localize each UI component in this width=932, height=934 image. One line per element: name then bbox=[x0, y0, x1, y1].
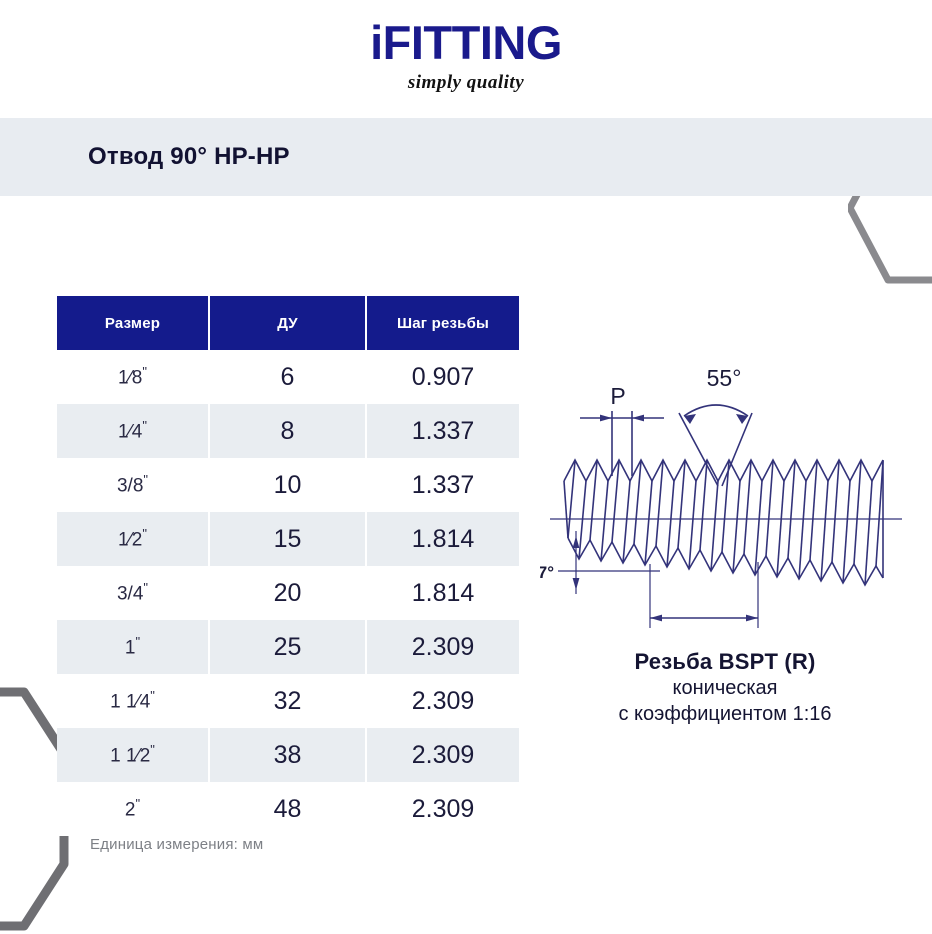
table-row: 1⁄2"151.814 bbox=[57, 512, 519, 566]
table-row: 2"482.309 bbox=[57, 782, 519, 836]
cell-size: 1" bbox=[57, 620, 210, 674]
inch-mark: " bbox=[135, 634, 140, 649]
inch-mark: " bbox=[142, 526, 147, 541]
cell-du: 20 bbox=[210, 566, 367, 620]
table-row: 1 1⁄4"322.309 bbox=[57, 674, 519, 728]
cell-size: 3/4" bbox=[57, 566, 210, 620]
size-value: 1⁄2 bbox=[118, 530, 142, 551]
thread-caption-title: Резьба BSPT (R) bbox=[540, 648, 910, 676]
inch-mark: " bbox=[143, 472, 148, 487]
cell-size: 1⁄8" bbox=[57, 350, 210, 404]
cell-size: 2" bbox=[57, 782, 210, 836]
cell-size: 1⁄2" bbox=[57, 512, 210, 566]
inch-mark: " bbox=[150, 742, 155, 757]
cell-pitch: 1.814 bbox=[367, 512, 519, 566]
brand-tagline: simply quality bbox=[408, 73, 524, 92]
content-area: Размер ДУ Шаг резьбы 1⁄8"60.9071⁄4"81.33… bbox=[0, 196, 932, 932]
cell-pitch: 2.309 bbox=[367, 782, 519, 836]
cell-du: 48 bbox=[210, 782, 367, 836]
size-value: 3/4 bbox=[117, 584, 143, 605]
inch-mark: " bbox=[143, 580, 148, 595]
cell-du: 38 bbox=[210, 728, 367, 782]
inch-mark: " bbox=[142, 364, 147, 379]
cell-du: 32 bbox=[210, 674, 367, 728]
cell-pitch: 2.309 bbox=[367, 674, 519, 728]
cell-size: 1⁄4" bbox=[57, 404, 210, 458]
inch-mark: " bbox=[150, 688, 155, 703]
unit-note: Единица измерения: мм bbox=[90, 836, 263, 853]
pitch-label: P bbox=[610, 383, 625, 409]
table-row: 3/4"201.814 bbox=[57, 566, 519, 620]
column-header-pitch: Шаг резьбы bbox=[367, 296, 519, 350]
size-value: 1 1⁄2 bbox=[110, 746, 150, 767]
table-row: 1 1⁄2"382.309 bbox=[57, 728, 519, 782]
cell-pitch: 0.907 bbox=[367, 350, 519, 404]
thread-profile-diagram: P 55° 1°47° bbox=[540, 356, 910, 646]
size-value: 1⁄4 bbox=[118, 422, 142, 443]
inch-mark: " bbox=[142, 418, 147, 433]
cell-du: 6 bbox=[210, 350, 367, 404]
angle-label: 55° bbox=[707, 365, 742, 391]
table-body: 1⁄8"60.9071⁄4"81.3373/8"101.3371⁄2"151.8… bbox=[57, 350, 519, 836]
table-row: 3/8"101.337 bbox=[57, 458, 519, 512]
logo-band: iFITTING simply quality bbox=[0, 0, 932, 118]
brand-logo-text: iFITTING bbox=[370, 19, 562, 66]
column-header-du: ДУ bbox=[210, 296, 367, 350]
cell-size: 3/8" bbox=[57, 458, 210, 512]
thread-caption-line3: с коэффициентом 1:16 bbox=[540, 702, 910, 728]
column-header-size: Размер bbox=[57, 296, 210, 350]
cell-du: 25 bbox=[210, 620, 367, 674]
title-bar: Отвод 90° НР-НР bbox=[0, 118, 932, 196]
cell-pitch: 1.337 bbox=[367, 404, 519, 458]
cell-pitch: 2.309 bbox=[367, 620, 519, 674]
cell-du: 8 bbox=[210, 404, 367, 458]
table-row: 1⁄4"81.337 bbox=[57, 404, 519, 458]
cell-size: 1 1⁄2" bbox=[57, 728, 210, 782]
specification-table: Размер ДУ Шаг резьбы 1⁄8"60.9071⁄4"81.33… bbox=[57, 296, 519, 836]
size-value: 2 bbox=[125, 800, 136, 821]
size-value: 3/8 bbox=[117, 476, 143, 497]
cell-size: 1 1⁄4" bbox=[57, 674, 210, 728]
taper-angle-label: 1°47° bbox=[540, 563, 554, 582]
cell-pitch: 1.337 bbox=[367, 458, 519, 512]
cell-du: 10 bbox=[210, 458, 367, 512]
thread-caption: Резьба BSPT (R) коническая с коэффициент… bbox=[540, 648, 910, 727]
table-header-row: Размер ДУ Шаг резьбы bbox=[57, 296, 519, 350]
thread-caption-line2: коническая bbox=[540, 676, 910, 702]
cell-du: 15 bbox=[210, 512, 367, 566]
page-title: Отвод 90° НР-НР bbox=[88, 143, 290, 171]
cell-pitch: 1.814 bbox=[367, 566, 519, 620]
size-value: 1 bbox=[125, 638, 136, 659]
table-row: 1"252.309 bbox=[57, 620, 519, 674]
size-value: 1 1⁄4 bbox=[110, 692, 150, 713]
inch-mark: " bbox=[135, 796, 140, 811]
table-row: 1⁄8"60.907 bbox=[57, 350, 519, 404]
cell-pitch: 2.309 bbox=[367, 728, 519, 782]
size-value: 1⁄8 bbox=[118, 368, 142, 389]
